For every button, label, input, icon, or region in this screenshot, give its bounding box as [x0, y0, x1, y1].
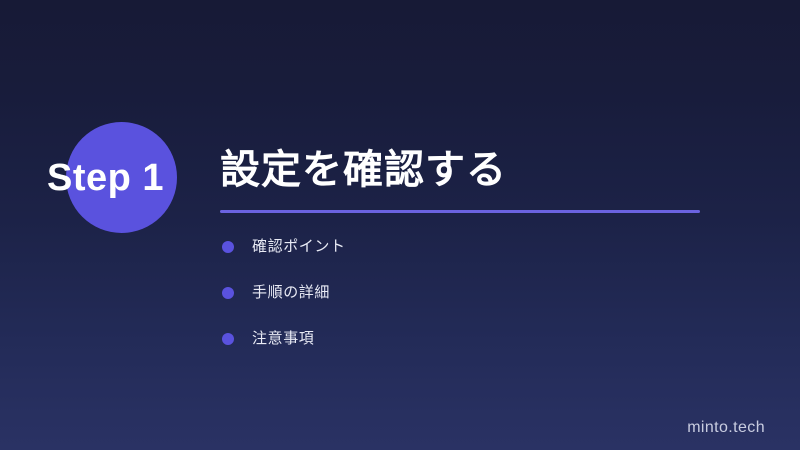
title-divider	[220, 210, 700, 213]
heading-block: 設定を確認する	[220, 144, 700, 213]
bullet-list: 確認ポイント 手順の詳細 注意事項	[222, 236, 692, 374]
list-item: 注意事項	[222, 328, 692, 349]
list-item-label: 注意事項	[252, 328, 314, 349]
list-item-label: 手順の詳細	[252, 282, 330, 303]
page-title: 設定を確認する	[220, 144, 700, 196]
bullet-dot-icon	[222, 333, 234, 345]
list-item-label: 確認ポイント	[252, 236, 346, 257]
slide-canvas: Step 1 設定を確認する 確認ポイント 手順の詳細 注意事項 minto.t…	[0, 0, 800, 450]
list-item: 確認ポイント	[222, 236, 692, 257]
step-badge-label: Step 1	[47, 155, 164, 201]
bullet-dot-icon	[222, 241, 234, 253]
list-item: 手順の詳細	[222, 282, 692, 303]
bullet-dot-icon	[222, 287, 234, 299]
footer-brand: minto.tech	[687, 419, 765, 437]
